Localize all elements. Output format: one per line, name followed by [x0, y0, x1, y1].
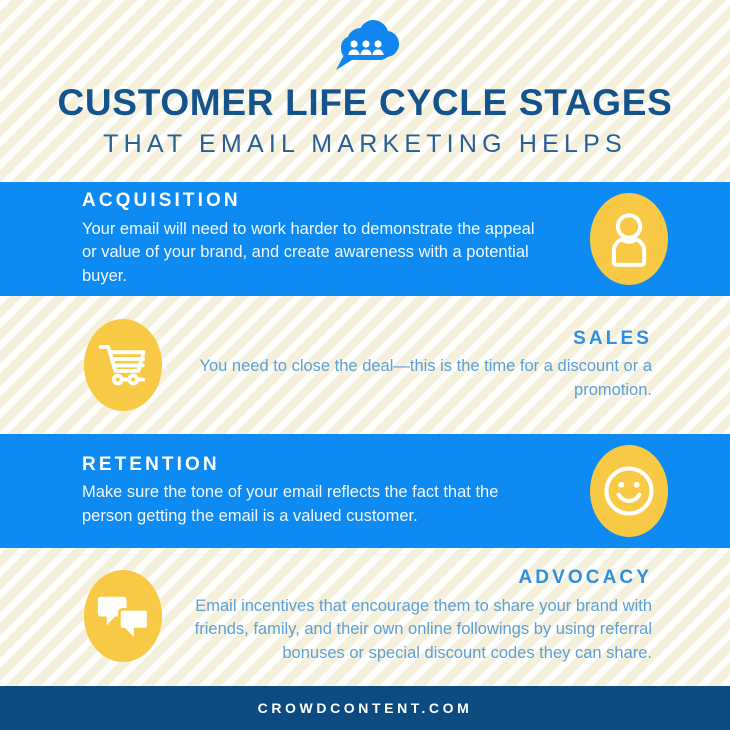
sales-text: You need to close the deal—this is the t…	[182, 355, 652, 402]
acquisition-body: ACQUISITION Your email will need to work…	[0, 190, 590, 288]
footer-brand-text: CROWDCONTENT.COM	[258, 700, 473, 716]
speech-bubble-people-icon	[319, 18, 411, 78]
infographic-header: CUSTOMER LIFE CYCLE STAGES THAT EMAIL MA…	[0, 0, 730, 182]
acquisition-text: Your email will need to work harder to d…	[82, 218, 552, 288]
smiley-face-icon	[590, 445, 668, 537]
sales-body: SALES You need to close the deal—this is…	[162, 328, 730, 403]
footer-bar: CROWDCONTENT.COM	[0, 686, 730, 730]
section-acquisition: ACQUISITION Your email will need to work…	[0, 182, 730, 296]
divider-gap-2	[0, 427, 730, 434]
section-retention: RETENTION Make sure the tone of your ema…	[0, 434, 730, 548]
retention-text: Make sure the tone of your email reflect…	[82, 481, 552, 528]
section-advocacy: ADVOCACY Email incentives that encourage…	[0, 554, 730, 678]
advocacy-heading: ADVOCACY	[162, 567, 652, 590]
retention-heading: RETENTION	[82, 454, 590, 477]
section-sales: SALES You need to close the deal—this is…	[0, 303, 730, 427]
retention-body: RETENTION Make sure the tone of your ema…	[0, 454, 590, 529]
divider-gap-1	[0, 296, 730, 303]
shopping-cart-icon	[84, 319, 162, 411]
sales-heading: SALES	[162, 328, 652, 351]
chat-bubbles-icon	[84, 570, 162, 662]
page-subtitle: THAT EMAIL MARKETING HELPS	[103, 130, 627, 159]
advocacy-text: Email incentives that encourage them to …	[182, 595, 652, 665]
page-title: CUSTOMER LIFE CYCLE STAGES	[57, 84, 672, 123]
acquisition-heading: ACQUISITION	[82, 190, 590, 213]
advocacy-body: ADVOCACY Email incentives that encourage…	[162, 567, 730, 665]
person-avatar-icon	[590, 193, 668, 285]
